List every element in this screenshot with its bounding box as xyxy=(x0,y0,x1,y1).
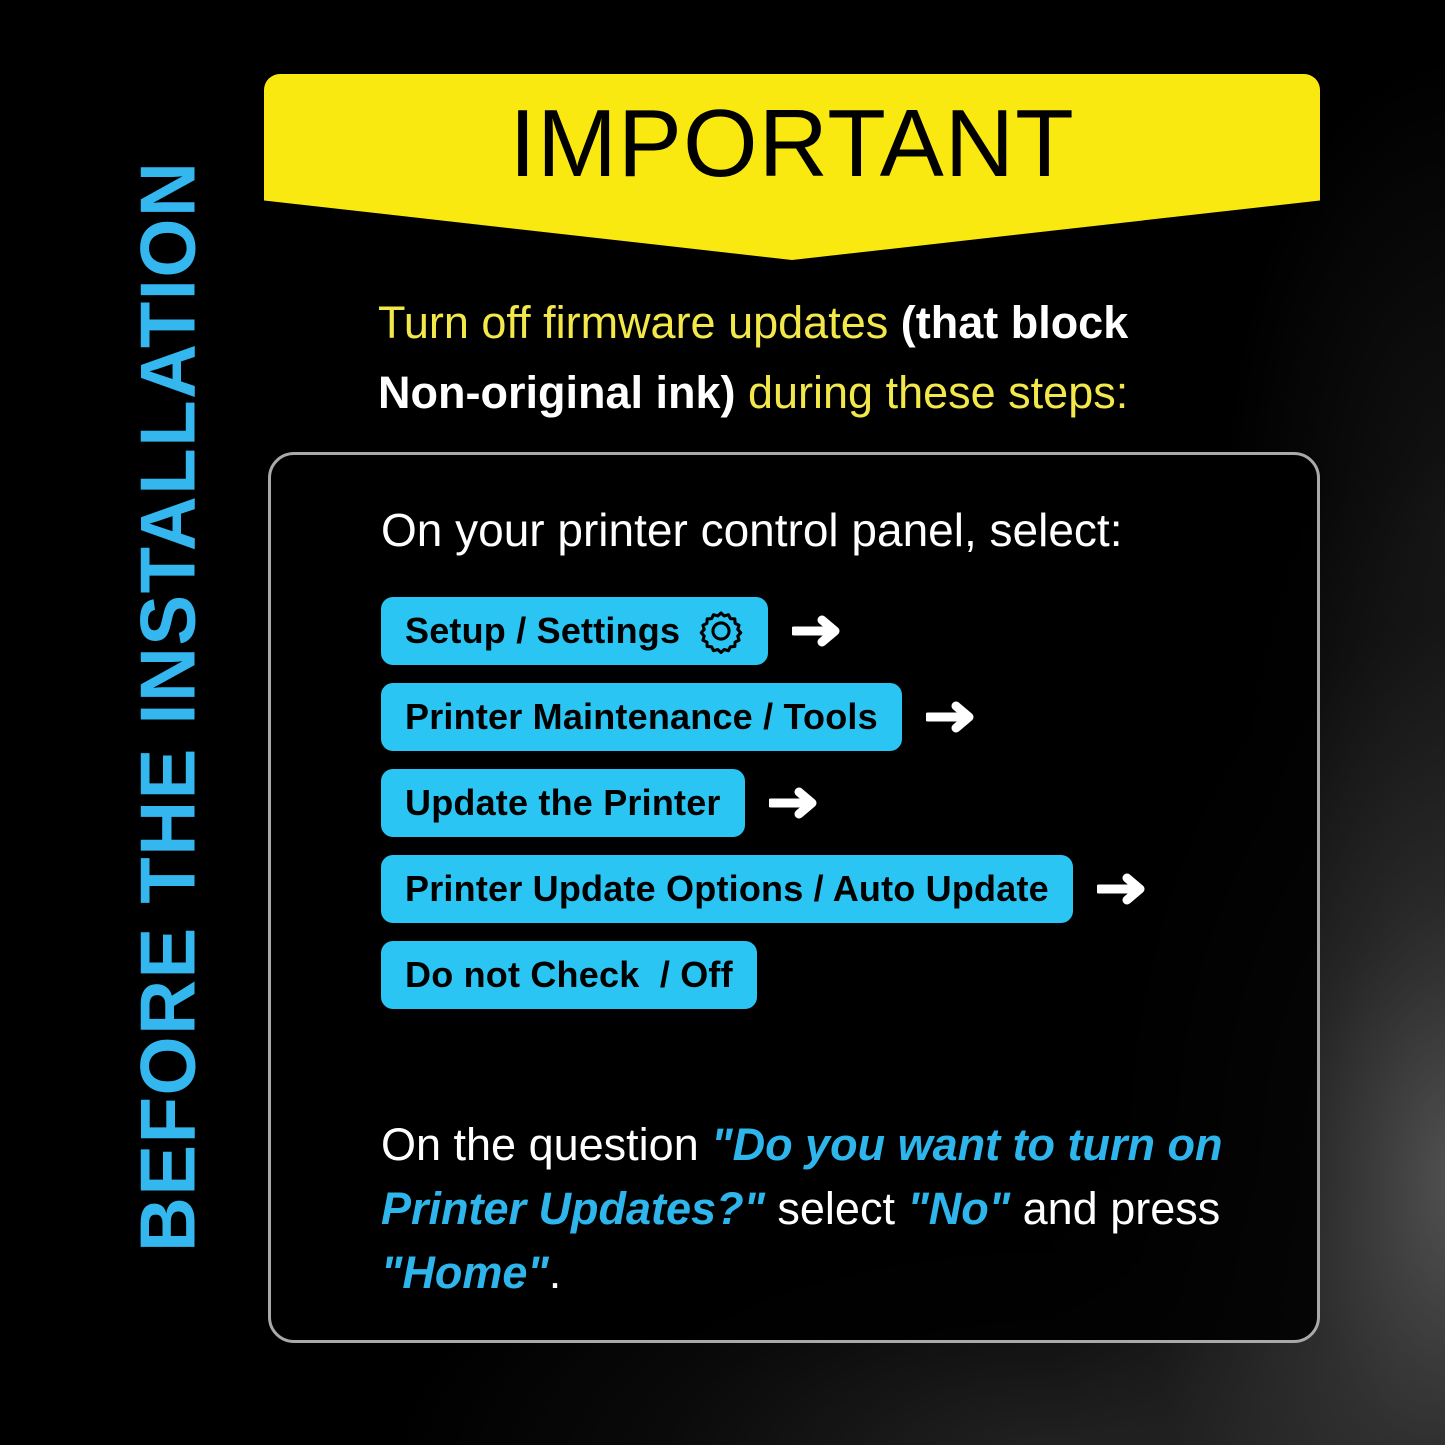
step-chip-setup-settings[interactable]: Setup / Settings xyxy=(381,597,768,665)
closing-text-4: . xyxy=(549,1247,562,1298)
headline-part-1: Turn off firmware updates xyxy=(378,297,901,348)
poster-canvas: BEFORE THE INSTALLATION IMPORTANT Turn o… xyxy=(0,0,1445,1445)
step-chip-label: Printer Maintenance / Tools xyxy=(405,699,878,735)
important-banner: IMPORTANT xyxy=(264,74,1320,260)
closing-text-1: On the question xyxy=(381,1119,711,1170)
arrow-right-icon xyxy=(1097,870,1155,908)
step-chip-label: Setup / Settings xyxy=(405,613,680,649)
closing-quote-home: "Home" xyxy=(381,1247,549,1298)
arrow-right-icon xyxy=(926,698,984,736)
panel-heading: On your printer control panel, select: xyxy=(381,507,1122,553)
step-chip-do-not-check-off[interactable]: Do not Check / Off xyxy=(381,941,757,1009)
vertical-side-title-text: BEFORE THE INSTALLATION xyxy=(130,0,208,1310)
closing-text-3: and press xyxy=(1010,1183,1220,1234)
closing-paragraph: On the question "Do you want to turn on … xyxy=(381,1113,1241,1305)
step-row: Do not Check / Off xyxy=(381,941,1301,1009)
step-chip-update-the-printer[interactable]: Update the Printer xyxy=(381,769,745,837)
arrow-right-icon xyxy=(769,784,827,822)
headline-part-3: during these steps: xyxy=(735,367,1128,418)
step-row: Printer Maintenance / Tools xyxy=(381,683,1301,751)
step-chip-printer-update-options-auto-update[interactable]: Printer Update Options / Auto Update xyxy=(381,855,1073,923)
step-chip-label: Update the Printer xyxy=(405,785,721,821)
step-row: Update the Printer xyxy=(381,769,1301,837)
headline: Turn off firmware updates (that block No… xyxy=(378,288,1178,428)
arrow-right-icon xyxy=(792,612,850,650)
step-chip-label: Printer Update Options / Auto Update xyxy=(405,871,1049,907)
steps-list: Setup / Settings xyxy=(381,597,1301,1027)
vertical-side-title: BEFORE THE INSTALLATION xyxy=(104,0,234,1380)
closing-quote-no: "No" xyxy=(907,1183,1010,1234)
gear-icon xyxy=(698,608,744,654)
closing-text-2: select xyxy=(765,1183,908,1234)
banner-label: IMPORTANT xyxy=(264,96,1320,192)
instructions-panel: On your printer control panel, select: S… xyxy=(268,452,1320,1343)
step-chip-label: Do not Check / Off xyxy=(405,957,733,993)
step-row: Printer Update Options / Auto Update xyxy=(381,855,1301,923)
step-row: Setup / Settings xyxy=(381,597,1301,665)
step-chip-printer-maintenance-tools[interactable]: Printer Maintenance / Tools xyxy=(381,683,902,751)
